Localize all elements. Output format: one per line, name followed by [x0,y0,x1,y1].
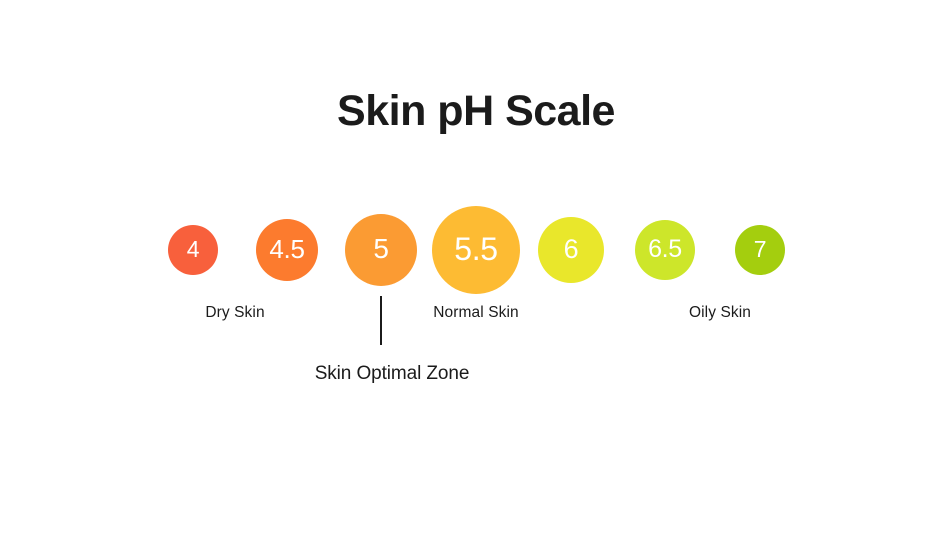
skin-ph-scale-infographic: Skin pH Scale 44.555.566.57Dry SkinNorma… [0,0,952,535]
ph-marker-4-5[interactable]: 4.5 [256,219,318,281]
ph-marker-label: 5.5 [454,233,498,265]
ph-marker-5-5[interactable]: 5.5 [432,206,520,294]
ph-marker-label: 6.5 [648,237,682,262]
ph-marker-label: 7 [754,238,767,261]
optimal-zone-label: Skin Optimal Zone [315,361,470,387]
ph-marker-6[interactable]: 6 [538,217,604,283]
zone-label-normal-skin: Normal Skin [433,303,519,323]
ph-marker-6-5[interactable]: 6.5 [635,220,695,280]
ph-marker-label: 6 [564,236,579,263]
ph-marker-label: 5 [373,235,388,263]
zone-label-dry-skin: Dry Skin [205,303,264,323]
ph-scale-track: 44.555.566.57Dry SkinNormal SkinOily Ski… [0,0,952,535]
ph-marker-label: 4.5 [269,236,304,262]
ph-marker-4[interactable]: 4 [168,225,218,275]
ph-marker-7[interactable]: 7 [735,225,785,275]
ph-marker-5[interactable]: 5 [345,214,417,286]
ph-marker-label: 4 [187,238,200,261]
optimal-zone-connector-line [380,296,382,345]
zone-label-oily-skin: Oily Skin [689,303,751,323]
